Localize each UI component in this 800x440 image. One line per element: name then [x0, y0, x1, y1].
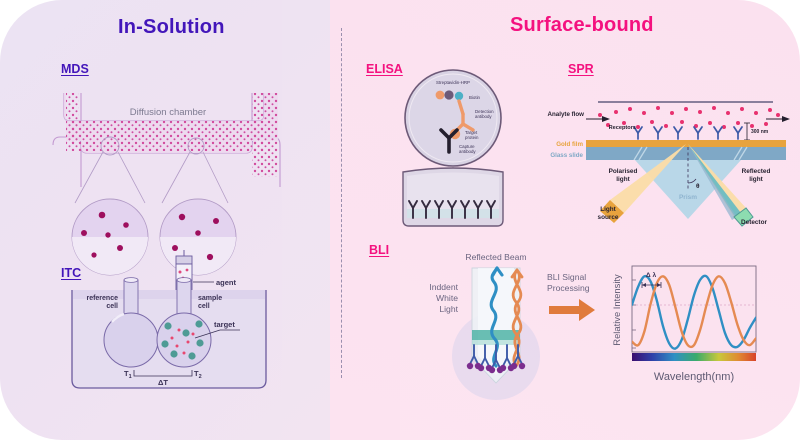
- spr-prism-label: Prism: [679, 194, 697, 201]
- diagram-mds: Diffusion chamber: [50, 85, 300, 235]
- itc-t2-sub: 2: [199, 374, 202, 380]
- orange-arrow-icon: [549, 299, 595, 321]
- elisa-microplate-well: [403, 168, 503, 226]
- mds-particles: [66, 93, 278, 177]
- chart-xlabel: Wavelength(nm): [654, 371, 734, 383]
- figure-root: In-Solution Surface-bound MDS ITC ELISA …: [0, 0, 800, 440]
- elisa-detection-antibody-label-2: antibody: [475, 114, 492, 119]
- bli-incident-light-label-1: Inddent: [429, 282, 458, 292]
- itc-agent-label: agent: [216, 278, 237, 287]
- spr-receptors-label: Receptors: [609, 125, 636, 131]
- spr-glass-slide: [586, 147, 786, 160]
- spr-light-source-label-2: source: [598, 214, 619, 221]
- elisa-biotin-label: Biotin: [469, 95, 481, 100]
- spr-theta-label: θ: [696, 183, 700, 190]
- itc-t1-sub: 1: [129, 374, 132, 380]
- bli-processing-label-2: Processing: [547, 283, 590, 293]
- section-label-elisa: ELISA: [366, 62, 403, 76]
- diagram-elisa: Streptavidin-HRP Biotin Detection antibo…: [385, 68, 535, 228]
- chart-bli-spectrum: Δ λ Wavelength(nm) Relative Intensity: [604, 258, 784, 398]
- elisa-target-protein-label-2: protein: [465, 135, 479, 140]
- bli-incident-light-label-2: White: [436, 293, 458, 303]
- spr-polarised-light-label-1: Polarised: [609, 168, 638, 175]
- bli-processing-label-1: BLI Signal: [547, 272, 586, 282]
- itc-sample-cell-label-1: sample: [198, 295, 222, 302]
- spr-polarised-light-label-2: light: [616, 176, 630, 183]
- spr-receptors: [634, 127, 742, 139]
- spr-gold-film-label: Gold film: [556, 141, 583, 148]
- spr-gold-film: [586, 140, 786, 147]
- diagram-itc: agent reference cell: [62, 258, 312, 398]
- spr-glass-slide-label: Glass slide: [550, 152, 583, 159]
- spr-detector-label: Detector: [741, 219, 767, 226]
- itc-target-label: target: [214, 320, 235, 329]
- section-label-bli: BLI: [369, 243, 389, 257]
- chart-ylabel: Relative Intensity: [611, 274, 622, 346]
- bli-reflected-beam-label: Reflected Beam: [465, 252, 526, 262]
- mds-chamber-label: Diffusion chamber: [130, 107, 206, 118]
- chart-spectrum-bar: [632, 353, 756, 361]
- spr-analyte-flow-label: Analyte flow: [548, 111, 585, 118]
- bli-incident-light-label-3: Light: [439, 304, 458, 314]
- section-label-mds: MDS: [61, 62, 89, 76]
- diagram-spr: Analyte flow Receptors: [538, 95, 800, 225]
- page-title-in-solution: In-Solution: [118, 16, 225, 39]
- page-title-surface-bound: Surface-bound: [510, 14, 654, 37]
- chart-delta-lambda-label: Δ λ: [646, 271, 657, 279]
- elisa-capture-antibody-label-2: antibody: [459, 149, 476, 154]
- spr-reflected-light-label-1: Reflected: [742, 168, 771, 175]
- spr-analyte-flow-arrow: [586, 116, 610, 122]
- elisa-streptavidin-hrp: [436, 90, 464, 100]
- itc-delta-t-label: ΔT: [158, 378, 168, 387]
- spr-scale-label: 300 nm: [751, 129, 769, 135]
- section-label-spr: SPR: [568, 62, 594, 76]
- itc-reference-cell-label-2: cell: [106, 303, 118, 310]
- elisa-streptavidin-label: Streptavidin-HRP: [436, 80, 470, 85]
- spr-light-source-label-1: Light: [600, 206, 616, 213]
- itc-sample-cell-label-2: cell: [198, 303, 210, 310]
- panel-divider: [341, 28, 342, 378]
- spr-reflected-light-label-2: light: [749, 176, 763, 183]
- itc-reference-cell-label-1: reference: [86, 295, 118, 302]
- section-label-itc: ITC: [61, 266, 81, 280]
